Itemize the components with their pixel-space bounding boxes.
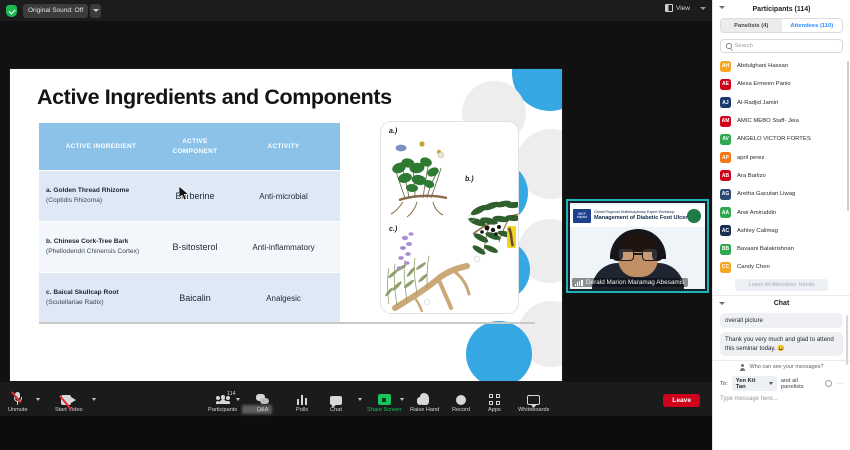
lens-bridge — [634, 253, 642, 255]
chat-recipient-row: To: Yen Kit Tan and all panelists ··· — [713, 373, 850, 391]
avatar: AH — [720, 61, 731, 72]
search-placeholder: Search — [735, 43, 753, 49]
meeting-top-bar: Original Sound: Off View — [0, 0, 712, 21]
chat-privacy-notice[interactable]: Who can see your messages? — [713, 360, 850, 373]
participant-name: Candy Chen — [737, 264, 770, 270]
to-suffix: and all panelists — [781, 378, 821, 390]
wdf-logo-icon: WDFimpact — [573, 209, 591, 223]
figure-label-b: b.) — [465, 176, 474, 183]
chevron-down-icon[interactable] — [719, 302, 725, 305]
person-info-icon — [740, 364, 747, 371]
video-name-label: Gerald Marion Maramag Abesamis — [572, 278, 688, 287]
avatar: AV — [720, 134, 731, 145]
participant-name: Abdulghani Hassan — [737, 63, 788, 69]
composer-placeholder: Type message here... — [720, 396, 778, 402]
avatar: AB — [720, 170, 731, 181]
chat-options-chevron-down-icon[interactable] — [358, 398, 362, 401]
ingredient-latin: (Phellodendri Chinensis Cortex) — [46, 247, 156, 257]
toolbar-label: Polls — [296, 407, 308, 413]
table-row: c. Baical Skullcap Root (Scutellariae Ra… — [39, 272, 340, 323]
toolbar-label: Raise Hand — [410, 407, 439, 413]
toolbar-unmute-button[interactable]: Unmute — [8, 392, 28, 413]
participants-list[interactable]: AH Abdulghani Hassan AE Alexa Ermeen Pan… — [713, 57, 850, 276]
list-item[interactable]: AG Aretha Gacutan Liwag — [713, 185, 850, 203]
participant-name: Al-Radjid Jamiri — [737, 100, 778, 106]
list-item[interactable]: AH Abdulghani Hassan — [713, 57, 850, 75]
recipient-name: Yen Kit Tan — [736, 378, 766, 390]
participants-options-chevron-down-icon[interactable] — [236, 398, 240, 401]
toolbar-qa-button[interactable]: Q&A — [256, 392, 269, 413]
camera-off-icon — [61, 392, 76, 405]
view-label: View — [676, 5, 690, 12]
emoji-icon[interactable] — [825, 380, 832, 387]
lower-all-hands-button[interactable]: Lower All Attendees' Hands — [735, 279, 828, 291]
presentation-slide[interactable]: Active Ingredients and Components ACTIVE… — [9, 68, 563, 382]
toolbar-share-screen-button[interactable]: Share Screen — [367, 392, 401, 413]
avatar: AP — [720, 152, 731, 163]
chat-recipient-dropdown[interactable]: Yen Kit Tan — [732, 376, 777, 391]
chevron-down-icon[interactable] — [719, 6, 725, 9]
layout-icon — [665, 4, 673, 12]
participant-name: Gerald Marion Maramag Abesamis — [586, 279, 685, 286]
botanical-figure-card: a.) b.) c.) — [380, 121, 519, 314]
chat-message-input[interactable]: Type message here... — [713, 391, 850, 407]
toolbar-polls-button[interactable]: Polls — [296, 392, 308, 413]
toolbar-participants-button[interactable]: Participants 114 — [208, 392, 237, 413]
avatar: CC — [720, 262, 731, 273]
toolbar-raise-hand-button[interactable]: Raise Hand — [410, 392, 439, 413]
cell-component: B-sitosterol — [163, 222, 227, 272]
toolbar-chat-button[interactable]: Chat — [330, 392, 342, 413]
list-item[interactable]: CC Candy Chen — [713, 258, 850, 276]
shield-check-icon[interactable] — [6, 5, 17, 17]
participant-name: Ashley Calimag — [737, 228, 778, 234]
toolbar-label: Record — [452, 407, 470, 413]
microphone-muted-icon — [13, 392, 22, 405]
participant-name: april perez — [737, 155, 765, 161]
banner-line-1: Global Regional Multidisciplinary Expert… — [594, 210, 674, 214]
participants-scrollbar[interactable] — [847, 61, 849, 211]
whiteboard-icon — [527, 392, 540, 405]
chevron-down-icon[interactable] — [700, 7, 706, 10]
search-icon — [726, 43, 732, 49]
participants-count: 114 — [227, 391, 236, 397]
view-button[interactable]: View — [665, 4, 690, 12]
decor-circle — [466, 321, 532, 382]
lens-right — [642, 248, 658, 261]
list-item[interactable]: AV ANGELO VICTOR FORTES — [713, 130, 850, 148]
botanical-illustrations — [381, 122, 519, 314]
toolbar-record-button[interactable]: Record — [452, 392, 470, 413]
tab-panelists[interactable]: Panelists (4) — [721, 19, 782, 32]
lens-left — [618, 248, 634, 261]
avatar: AM — [720, 116, 731, 127]
table-header-row: ACTIVE INGREDIENT ACTIVE COMPONENT ACTIV… — [39, 123, 340, 170]
banner-text: Global Regional Multidisciplinary Expert… — [594, 210, 688, 222]
avatar: AC — [720, 225, 731, 236]
figure-label-c: c.) — [389, 226, 397, 233]
list-item[interactable]: AJ Al-Radjid Jamiri — [713, 94, 850, 112]
tab-attendees[interactable]: Attendees (110) — [782, 19, 843, 32]
ingredient-latin: (Scutellariae Radix) — [46, 298, 156, 308]
shared-screen-stage: Active Ingredients and Components ACTIVE… — [0, 21, 712, 416]
slide-divider — [39, 322, 535, 324]
mouse-cursor — [179, 186, 190, 201]
chat-message: Thank you very much and glad to attend t… — [720, 332, 843, 356]
chat-title: Chat — [774, 300, 790, 307]
qa-bubbles-icon — [256, 392, 269, 405]
zoom-meeting-window: Original Sound: Off View Active Ingredie… — [0, 0, 850, 450]
list-item[interactable]: AP april perez — [713, 148, 850, 166]
column-header-active-component: ACTIVE COMPONENT — [163, 123, 227, 170]
figure-label-a: a.) — [389, 128, 397, 135]
participants-tabs: Panelists (4) Attendees (110) — [720, 18, 843, 33]
list-item[interactable]: AA Arwi Amiruddin — [713, 203, 850, 221]
toolbar-label: Q&A — [257, 407, 269, 413]
signal-bars-icon — [575, 280, 583, 286]
chat-bubble-icon — [330, 392, 342, 405]
more-options-icon[interactable]: ··· — [837, 381, 843, 387]
video-options-chevron-down-icon[interactable] — [92, 398, 96, 401]
right-side-panel: Participants (114) Panelists (4) Attende… — [712, 0, 850, 450]
privacy-notice-label: Who can see your messages? — [750, 364, 824, 370]
original-sound-dropdown[interactable] — [90, 4, 101, 18]
eyeglasses — [618, 248, 658, 261]
participant-name: Alexa Ermeen Panio — [737, 81, 791, 87]
self-video-thumbnail[interactable]: WDFimpact Global Regional Multidisciplin… — [566, 199, 709, 293]
unmute-options-chevron-down-icon[interactable] — [36, 398, 40, 401]
chevron-down-icon — [769, 382, 773, 385]
participants-search-box[interactable]: Search — [720, 39, 843, 53]
participants-title: Participants (114) — [753, 6, 811, 13]
avatar: AE — [720, 79, 731, 90]
organization-seal-icon — [687, 209, 701, 223]
toolbar-label: Unmute — [8, 407, 28, 413]
toolbar-label: Whiteboards — [518, 407, 549, 413]
participant-name: Arwi Amiruddin — [737, 210, 776, 216]
list-item[interactable]: AB Ara Barlizo — [713, 167, 850, 185]
ingredient-name: b. Chinese Cork-Tree Bark — [46, 237, 156, 247]
leave-meeting-button[interactable]: Leave — [663, 394, 700, 407]
record-circle-icon — [456, 392, 466, 405]
participant-name: Bavaani Balakrishnan — [737, 246, 794, 252]
chat-panel-header: Chat — [713, 295, 850, 311]
video-feed: WDFimpact Global Regional Multidisciplin… — [570, 203, 705, 289]
cell-component: Baicalin — [163, 273, 227, 323]
chevron-down-icon — [93, 9, 99, 12]
polls-bars-icon — [297, 392, 307, 405]
to-label: To: — [720, 381, 728, 387]
cell-activity: Anti-microbial — [227, 171, 340, 221]
toolbar-apps-button[interactable]: Apps — [488, 392, 501, 413]
ingredient-latin: (Coptidis Rhizoma) — [46, 196, 156, 206]
ingredients-table: ACTIVE INGREDIENT ACTIVE COMPONENT ACTIV… — [39, 123, 340, 323]
cell-activity: Analgesic — [227, 273, 340, 323]
original-sound-label: Original Sound: Off — [28, 7, 83, 14]
column-header-active-ingredient: ACTIVE INGREDIENT — [39, 123, 163, 170]
chat-scrollbar[interactable] — [846, 315, 848, 365]
avatar: AA — [720, 207, 731, 218]
apps-grid-icon — [489, 392, 500, 405]
cell-ingredient: a. Golden Thread Rhizome (Coptidis Rhizo… — [39, 171, 163, 221]
raise-hand-icon — [420, 392, 429, 405]
chat-message: overall picture — [720, 313, 843, 328]
toolbar-start-video-button[interactable]: Start Video — [55, 392, 83, 413]
cell-activity: Anti-inflammatory — [227, 222, 340, 272]
list-item[interactable]: AC Ashley Calimag — [713, 222, 850, 240]
cell-ingredient: b. Chinese Cork-Tree Bark (Phellodendri … — [39, 222, 163, 272]
column-header-activity: ACTIVITY — [227, 123, 340, 170]
cell-component: Berberine — [163, 171, 227, 221]
original-sound-button[interactable]: Original Sound: Off — [23, 4, 88, 18]
share-screen-icon — [378, 392, 391, 405]
cell-ingredient: c. Baical Skullcap Root (Scutellariae Ra… — [39, 273, 163, 323]
slide-title: Active Ingredients and Components — [37, 85, 392, 110]
chat-messages[interactable]: overall picture Thank you very much and … — [713, 311, 850, 356]
participants-panel-header: Participants (114) — [713, 0, 850, 18]
video-background-banner: WDFimpact Global Regional Multidisciplin… — [570, 205, 705, 227]
avatar: BB — [720, 244, 731, 255]
ingredient-name: a. Golden Thread Rhizome — [46, 186, 156, 196]
toolbar-label: Apps — [488, 407, 501, 413]
list-item[interactable]: BB Bavaani Balakrishnan — [713, 240, 850, 258]
avatar: AJ — [720, 97, 731, 108]
table-row: b. Chinese Cork-Tree Bark (Phellodendri … — [39, 221, 340, 272]
list-item[interactable]: AE Alexa Ermeen Panio — [713, 75, 850, 93]
participant-name: Aretha Gacutan Liwag — [737, 191, 795, 197]
toolbar-whiteboards-button[interactable]: Whiteboards — [518, 392, 549, 413]
banner-line-2: Management of Diabetic Foot Ulcer — [594, 215, 688, 221]
chat-row-actions: ··· — [825, 380, 843, 387]
list-item[interactable]: AM AMIC MEBO Staff- Jeia — [713, 112, 850, 130]
participant-name: ANGELO VICTOR FORTES — [737, 136, 811, 142]
participant-name: Ara Barlizo — [737, 173, 766, 179]
toolbar-label: Participants — [208, 407, 237, 413]
ingredient-name: c. Baical Skullcap Root — [46, 288, 156, 298]
toolbar-label: Share Screen — [367, 407, 401, 413]
meeting-toolbar: Unmute Start Video — [0, 382, 712, 416]
share-options-chevron-down-icon[interactable] — [400, 398, 404, 401]
participant-name: AMIC MEBO Staff- Jeia — [737, 118, 799, 124]
avatar: AG — [720, 189, 731, 200]
